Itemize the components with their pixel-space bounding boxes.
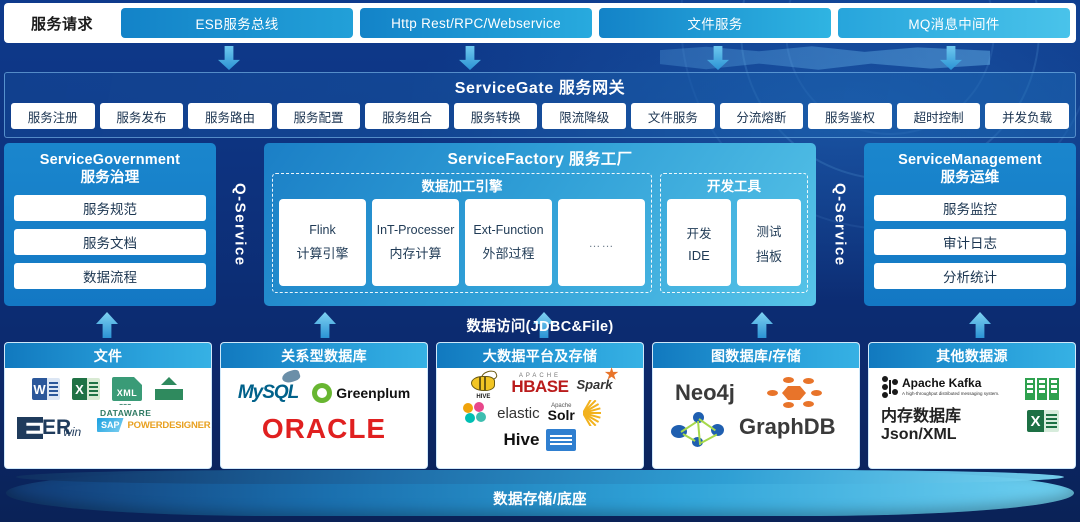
engine-card-int-line2: 内存计算 bbox=[389, 243, 441, 262]
data-access-label: 数据访问(JDBC&File) bbox=[0, 315, 1080, 336]
service-request-label: 服务请求 bbox=[10, 13, 114, 34]
xml-icon: XML bbox=[112, 377, 142, 401]
green-shape-icon bbox=[154, 377, 184, 401]
source-body-bigdata: HIVE APACHE HBASE Spark bbox=[437, 368, 643, 468]
governance-item-0[interactable]: 服务规范 bbox=[14, 195, 206, 221]
neo4j-graph-icon bbox=[671, 412, 723, 446]
source-body-rdbms: MySQL Greenplum ORACLE bbox=[221, 368, 427, 468]
tool-card-test[interactable]: 测试 挡板 bbox=[737, 199, 801, 286]
governance-title-en: ServiceGovernment bbox=[40, 152, 180, 168]
graphdb-label: GraphDB bbox=[739, 414, 836, 440]
service-gate-panel: ServiceGate 服务网关 服务注册 服务发布 服务路由 服务配置 服务组… bbox=[4, 72, 1076, 138]
excel-icon: X bbox=[1027, 410, 1061, 438]
service-factory-title: ServiceFactory 服务工厂 bbox=[272, 149, 808, 171]
gate-item-6[interactable]: 限流降级 bbox=[542, 103, 626, 129]
source-panel-others: 其他数据源 Apache Kafka A high-throughput dis… bbox=[868, 342, 1076, 469]
engine-card-flink-line1: Flink bbox=[309, 223, 335, 237]
solr-logo: Apache Solr bbox=[548, 403, 575, 423]
hive-label: Hive bbox=[504, 430, 540, 450]
tool-card-ide-line1: 开发 bbox=[686, 223, 711, 242]
source-header-bigdata: 大数据平台及存储 bbox=[437, 343, 643, 368]
service-request-bar: 服务请求 ESB服务总线 Http Rest/RPC/Webservice 文件… bbox=[4, 3, 1076, 43]
management-title: ServiceManagement 服务运维 bbox=[874, 151, 1066, 187]
gate-item-4[interactable]: 服务组合 bbox=[365, 103, 449, 129]
service-management-panel: ServiceManagement 服务运维 服务监控 审计日志 分析统计 bbox=[864, 143, 1076, 306]
gate-item-1[interactable]: 服务发布 bbox=[100, 103, 184, 129]
source-panel-rdbms: 关系型数据库 MySQL Greenplum ORACLE bbox=[220, 342, 428, 469]
service-governance-panel: ServiceGovernment 服务治理 服务规范 服务文档 数据流程 bbox=[4, 143, 216, 306]
engine-card-ext-line2: 外部过程 bbox=[482, 243, 534, 262]
source-header-graphdb: 图数据库/存储 bbox=[653, 343, 859, 368]
data-access-band: 数据访问(JDBC&File) bbox=[0, 308, 1080, 342]
solr-sun-icon bbox=[583, 400, 617, 426]
green-table-icon bbox=[1025, 378, 1059, 400]
engine-card-more[interactable]: …… bbox=[558, 199, 645, 286]
tool-card-test-line2: 挡板 bbox=[756, 246, 782, 265]
governance-item-2[interactable]: 数据流程 bbox=[14, 263, 206, 289]
platform-label: 数据存储/底座 bbox=[6, 488, 1074, 509]
source-header-others: 其他数据源 bbox=[869, 343, 1075, 368]
engine-card-ext-line1: Ext-Function bbox=[473, 223, 543, 237]
sap-powerdesigner-logo: SAP POWERDESIGNER bbox=[97, 418, 210, 432]
engine-title: 数据加工引擎 bbox=[279, 177, 645, 197]
tool-card-ide-line2: IDE bbox=[688, 248, 710, 263]
zigzag-decoration bbox=[660, 44, 990, 72]
factory-body: 数据加工引擎 Flink 计算引擎 InT-Processer 内存计算 Ext… bbox=[272, 173, 808, 293]
gate-item-2[interactable]: 服务路由 bbox=[188, 103, 272, 129]
source-panel-files: 文件 W X XML ━━━ DATAWARE bbox=[4, 342, 212, 469]
spark-logo: Spark bbox=[576, 376, 612, 394]
gate-item-0[interactable]: 服务注册 bbox=[11, 103, 95, 129]
middle-layer: ServiceGovernment 服务治理 服务规范 服务文档 数据流程 Q-… bbox=[4, 143, 1076, 306]
engine-card-int-processer[interactable]: InT-Processer 内存计算 bbox=[372, 199, 459, 286]
hbase-logo: APACHE HBASE bbox=[511, 373, 568, 397]
kafka-icon bbox=[881, 376, 899, 398]
management-title-cn: 服务运维 bbox=[874, 169, 1066, 187]
gate-item-11[interactable]: 并发负载 bbox=[985, 103, 1069, 129]
downward-arrow-band bbox=[0, 44, 1080, 72]
management-item-0[interactable]: 服务监控 bbox=[874, 195, 1066, 221]
source-panel-bigdata: 大数据平台及存储 HIVE APACHE HBASE Spark bbox=[436, 342, 644, 469]
data-sources-row: 文件 W X XML ━━━ DATAWARE bbox=[4, 342, 1076, 469]
engine-card-flink-line2: 计算引擎 bbox=[296, 243, 348, 262]
oracle-logo: ORACLE bbox=[221, 413, 427, 445]
q-service-label-right: Q-Service bbox=[832, 183, 849, 267]
source-body-others: Apache Kafka A high-throughput distribut… bbox=[869, 368, 1075, 468]
tool-card-ide[interactable]: 开发 IDE bbox=[667, 199, 731, 286]
word-icon: W bbox=[32, 378, 60, 400]
q-service-label-left: Q-Service bbox=[232, 183, 249, 267]
tool-card-test-line1: 测试 bbox=[756, 221, 781, 240]
q-service-rail-left: Q-Service bbox=[216, 143, 264, 306]
request-button-esb[interactable]: ESB服务总线 bbox=[121, 8, 353, 38]
gate-item-7[interactable]: 文件服务 bbox=[631, 103, 715, 129]
service-gate-items: 服务注册 服务发布 服务路由 服务配置 服务组合 服务转换 限流降级 文件服务 … bbox=[11, 103, 1069, 129]
engine-card-ext-function[interactable]: Ext-Function 外部过程 bbox=[465, 199, 552, 286]
request-button-mq[interactable]: MQ消息中间件 bbox=[838, 8, 1070, 38]
gate-item-10[interactable]: 超时控制 bbox=[897, 103, 981, 129]
gate-item-8[interactable]: 分流熔断 bbox=[720, 103, 804, 129]
source-panel-graphdb: 图数据库/存储 Neo4j bbox=[652, 342, 860, 469]
governance-title-cn: 服务治理 bbox=[14, 169, 206, 187]
engine-card-flink[interactable]: Flink 计算引擎 bbox=[279, 199, 366, 286]
governance-title: ServiceGovernment 服务治理 bbox=[14, 151, 206, 187]
diagram-canvas: 服务请求 ESB服务总线 Http Rest/RPC/Webservice 文件… bbox=[0, 0, 1080, 522]
source-header-files: 文件 bbox=[5, 343, 211, 368]
service-factory-panel: ServiceFactory 服务工厂 数据加工引擎 Flink 计算引擎 In… bbox=[264, 143, 816, 306]
management-title-en: ServiceManagement bbox=[898, 152, 1042, 168]
governance-item-1[interactable]: 服务文档 bbox=[14, 229, 206, 255]
dev-tools-cards: 开发 IDE 测试 挡板 bbox=[667, 199, 801, 286]
elastic-label: elastic bbox=[497, 405, 540, 422]
graphdb-hex-icon bbox=[763, 376, 825, 410]
request-button-file[interactable]: 文件服务 bbox=[599, 8, 831, 38]
mysql-logo: MySQL bbox=[238, 382, 298, 404]
dev-tools-title: 开发工具 bbox=[667, 177, 801, 197]
gate-item-9[interactable]: 服务鉴权 bbox=[808, 103, 892, 129]
engine-card-int-line1: InT-Processer bbox=[377, 223, 455, 237]
erwin-logo: ER win bbox=[17, 416, 81, 440]
engine-card-more-label: …… bbox=[589, 236, 615, 250]
request-button-http[interactable]: Http Rest/RPC/Webservice bbox=[360, 8, 592, 38]
elastic-logo bbox=[463, 402, 489, 424]
source-body-files: W X XML ━━━ DATAWARE ER bbox=[5, 368, 211, 468]
management-item-1[interactable]: 审计日志 bbox=[874, 229, 1066, 255]
hive-file-icon bbox=[546, 429, 576, 451]
service-gate-title: ServiceGate 服务网关 bbox=[11, 78, 1069, 100]
dev-tools-group: 开发工具 开发 IDE 测试 挡板 bbox=[660, 173, 808, 293]
storage-platform: 数据存储/底座 bbox=[6, 470, 1074, 516]
source-body-graphdb: Neo4j bbox=[653, 368, 859, 468]
neo4j-label: Neo4j bbox=[675, 380, 735, 406]
json-xml-label: Json/XML bbox=[881, 426, 957, 444]
q-service-rail-right: Q-Service bbox=[816, 143, 864, 306]
platform-top-surface bbox=[16, 470, 1064, 484]
excel-icon: X bbox=[72, 378, 100, 400]
engine-cards: Flink 计算引擎 InT-Processer 内存计算 Ext-Functi… bbox=[279, 199, 645, 286]
hive-bee-logo: HIVE bbox=[467, 372, 503, 398]
kafka-logo: Apache Kafka A high-throughput distribut… bbox=[881, 376, 999, 398]
greenplum-logo: Greenplum bbox=[312, 383, 410, 403]
management-item-2[interactable]: 分析统计 bbox=[874, 263, 1066, 289]
gate-item-3[interactable]: 服务配置 bbox=[277, 103, 361, 129]
data-processing-engine-group: 数据加工引擎 Flink 计算引擎 InT-Processer 内存计算 Ext… bbox=[272, 173, 652, 293]
arrow-down-icon bbox=[459, 46, 481, 70]
source-header-rdbms: 关系型数据库 bbox=[221, 343, 427, 368]
arrow-down-icon bbox=[218, 46, 240, 70]
memory-db-label: 内存数据库 bbox=[881, 402, 961, 426]
gate-item-5[interactable]: 服务转换 bbox=[454, 103, 538, 129]
dataware-logo: ━━━ DATAWARE bbox=[100, 402, 151, 418]
